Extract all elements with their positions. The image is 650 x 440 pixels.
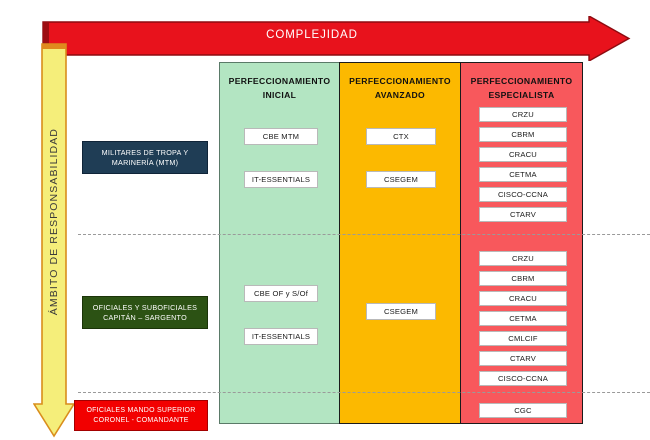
course-chip[interactable]: CSEGEM — [366, 303, 436, 320]
role-label-tropa-marineria: MILITARES DE TROPA Y MARINERÍA (MTM) — [82, 141, 208, 174]
role-label-mando-superior: OFICIALES MANDO SUPERIOR CORONEL - COMAN… — [74, 400, 208, 431]
course-chip[interactable]: CTARV — [479, 351, 567, 366]
course-chip[interactable]: CBRM — [479, 127, 567, 142]
course-chip[interactable]: CSEGEM — [366, 171, 436, 188]
course-chip[interactable]: CBE MTM — [244, 128, 318, 145]
column-perfeccionamiento-avanzado: PERFECCIONAMIENTO AVANZADO CTX CSEGEM CS… — [339, 62, 460, 424]
course-chip[interactable]: CMLCIF — [479, 331, 567, 346]
ambito-responsabilidad-arrow — [33, 42, 75, 438]
course-chip[interactable]: CBE OF y S/Of — [244, 285, 318, 302]
course-chip[interactable]: CISCO-CCNA — [479, 371, 567, 386]
course-chip[interactable]: CRZU — [479, 107, 567, 122]
course-chip[interactable]: CRZU — [479, 251, 567, 266]
course-chip[interactable]: IT-ESSENTIALS — [244, 328, 318, 345]
course-chip[interactable]: CTARV — [479, 207, 567, 222]
course-chip[interactable]: CGC — [479, 403, 567, 418]
role-label-oficiales-suboficiales: OFICIALES Y SUBOFICIALES CAPITÁN – SARGE… — [82, 296, 208, 329]
course-chip[interactable]: CTX — [366, 128, 436, 145]
column-perfeccionamiento-inicial: PERFECCIONAMIENTO INICIAL CBE MTM IT-ESS… — [219, 62, 339, 424]
column-title-inicial: PERFECCIONAMIENTO INICIAL — [220, 74, 339, 102]
course-chip[interactable]: IT-ESSENTIALS — [244, 171, 318, 188]
course-chip[interactable]: CRACU — [479, 147, 567, 162]
course-chip[interactable]: CETMA — [479, 167, 567, 182]
tier-separator — [78, 234, 650, 235]
column-title-avanzado: PERFECCIONAMIENTO AVANZADO — [340, 74, 460, 102]
tier-separator — [78, 392, 650, 393]
course-chip[interactable]: CRACU — [479, 291, 567, 306]
complejidad-arrow: COMPLEJIDAD — [41, 16, 631, 61]
training-matrix-diagram: COMPLEJIDAD ÁMBITO DE RESPONSABILIDAD PE… — [0, 0, 650, 440]
course-chip[interactable]: CETMA — [479, 311, 567, 326]
column-perfeccionamiento-especialista: PERFECCIONAMIENTO ESPECIALISTA CRZU CBRM… — [460, 62, 583, 424]
course-chip[interactable]: CBRM — [479, 271, 567, 286]
course-chip[interactable]: CISCO-CCNA — [479, 187, 567, 202]
column-title-especialista: PERFECCIONAMIENTO ESPECIALISTA — [461, 74, 582, 102]
